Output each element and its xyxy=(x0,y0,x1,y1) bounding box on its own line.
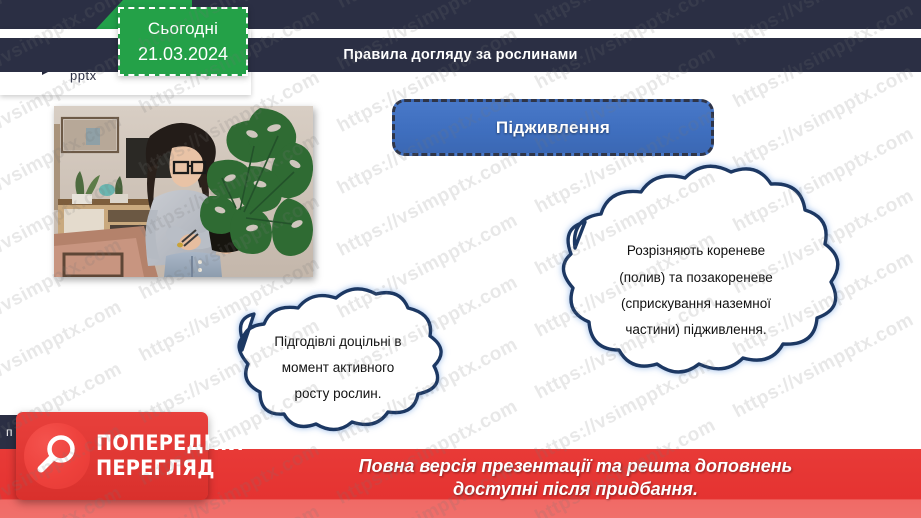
today-date: 21.03.2024 xyxy=(138,44,228,65)
slide-canvas: ВСІМ pptx Сьогодні 21.03.2024 Правила до… xyxy=(0,0,921,518)
plant-care-photo xyxy=(54,106,313,277)
page-title: Правила догляду за рослинами xyxy=(343,47,577,63)
purchase-notice-line-2: доступні після придбання. xyxy=(230,478,921,501)
topic-chip-pidzhyvlennia[interactable]: Підживлення xyxy=(392,99,714,156)
cloud-right-line-1: Розрізняють кореневе xyxy=(627,238,765,264)
magnifier-icon xyxy=(24,423,90,489)
cloud-right-line-2: (полив) та позакореневе xyxy=(619,265,773,291)
topic-chip-label: Підживлення xyxy=(496,118,610,138)
today-date-badge: Сьогодні 21.03.2024 xyxy=(118,7,248,76)
cloud-left-line-2: момент активного xyxy=(282,355,395,381)
cloud-left-line-3: росту рослин. xyxy=(295,381,382,407)
footer-stub-text: п xyxy=(6,425,13,439)
preview-badge-line-2: ПЕРЕГЛЯД xyxy=(96,458,244,479)
preview-badge[interactable]: ПОПЕРЕДНІЙ ПЕРЕГЛЯД xyxy=(16,412,208,500)
today-label: Сьогодні xyxy=(148,19,218,39)
cloud-right-text: Розрізняють кореневе (полив) та позакоре… xyxy=(505,186,887,392)
cloud-right-line-4: частини) підживлення. xyxy=(625,317,766,343)
cloud-callout-right: Розрізняють кореневе (полив) та позакоре… xyxy=(505,186,887,392)
cloud-right-line-3: (сприскування наземної xyxy=(621,291,771,317)
purchase-notice-line-1: Повна версія презентації та решта доповн… xyxy=(230,455,921,478)
preview-badge-line-1: ПОПЕРЕДНІЙ xyxy=(96,433,244,454)
cloud-left-line-1: Підгодівлі доцільні в xyxy=(274,329,401,355)
